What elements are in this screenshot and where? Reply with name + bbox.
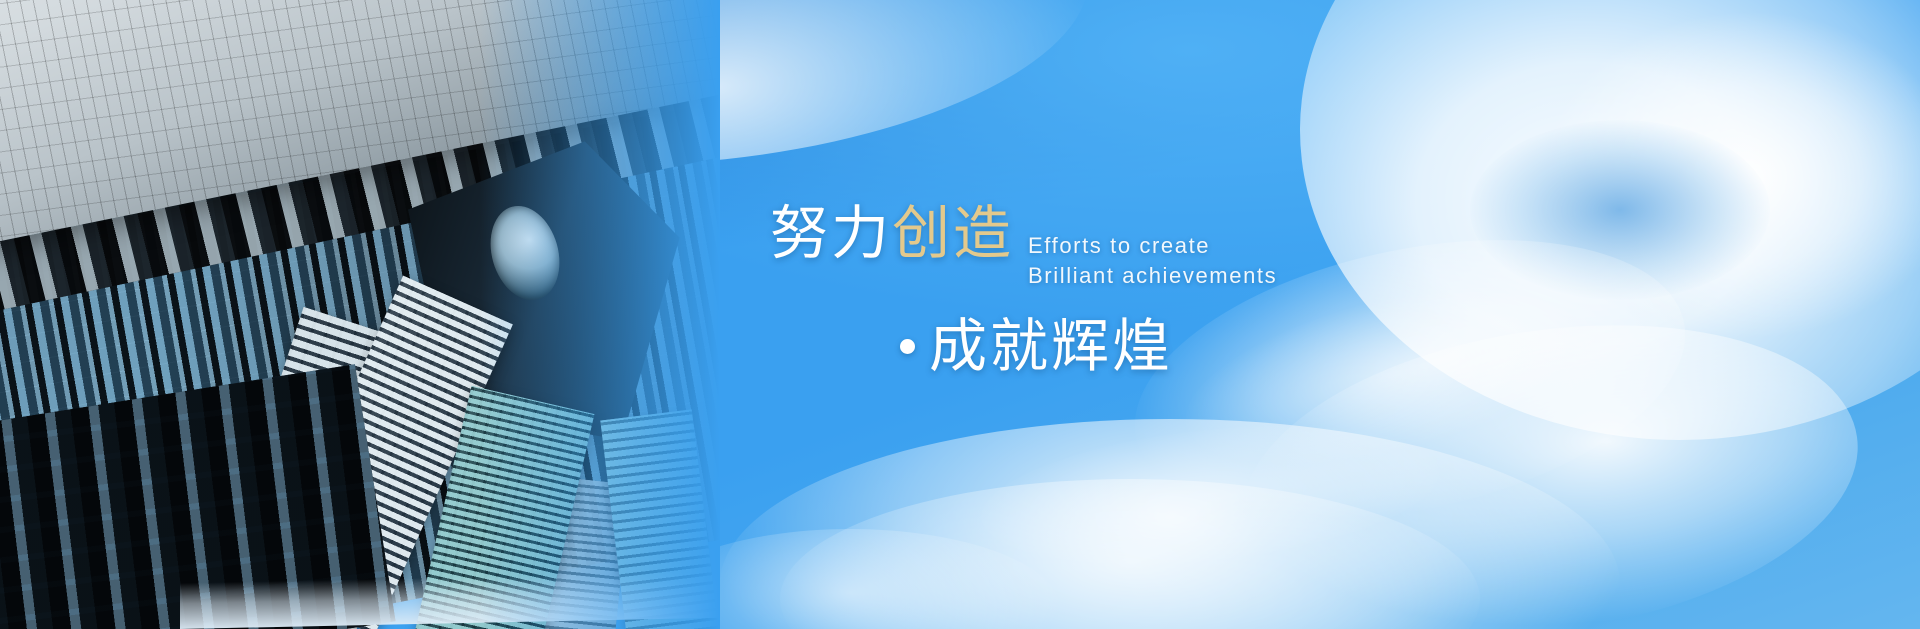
headline-chinese: 努力创造 [770,205,1014,263]
banner-copy: 努力创造 Efforts to create Brilliant achieve… [770,205,1430,376]
headline-english: Efforts to create Brilliant achievements [1028,231,1277,296]
headline-cn-white: 努力 [770,201,892,266]
subline-chinese: 成就辉煌 [929,318,1173,376]
bullet-dot-icon [900,339,915,354]
headline-en-line-1: Efforts to create [1028,231,1277,261]
subline-row: 成就辉煌 [770,318,1430,376]
headline-en-line-2: Brilliant achievements [1028,261,1277,291]
hero-banner: 努力创造 Efforts to create Brilliant achieve… [0,0,1920,629]
headline-row: 努力创造 Efforts to create Brilliant achieve… [770,205,1430,296]
headline-cn-gold: 创造 [892,201,1014,266]
skyscraper-photo [0,0,720,629]
